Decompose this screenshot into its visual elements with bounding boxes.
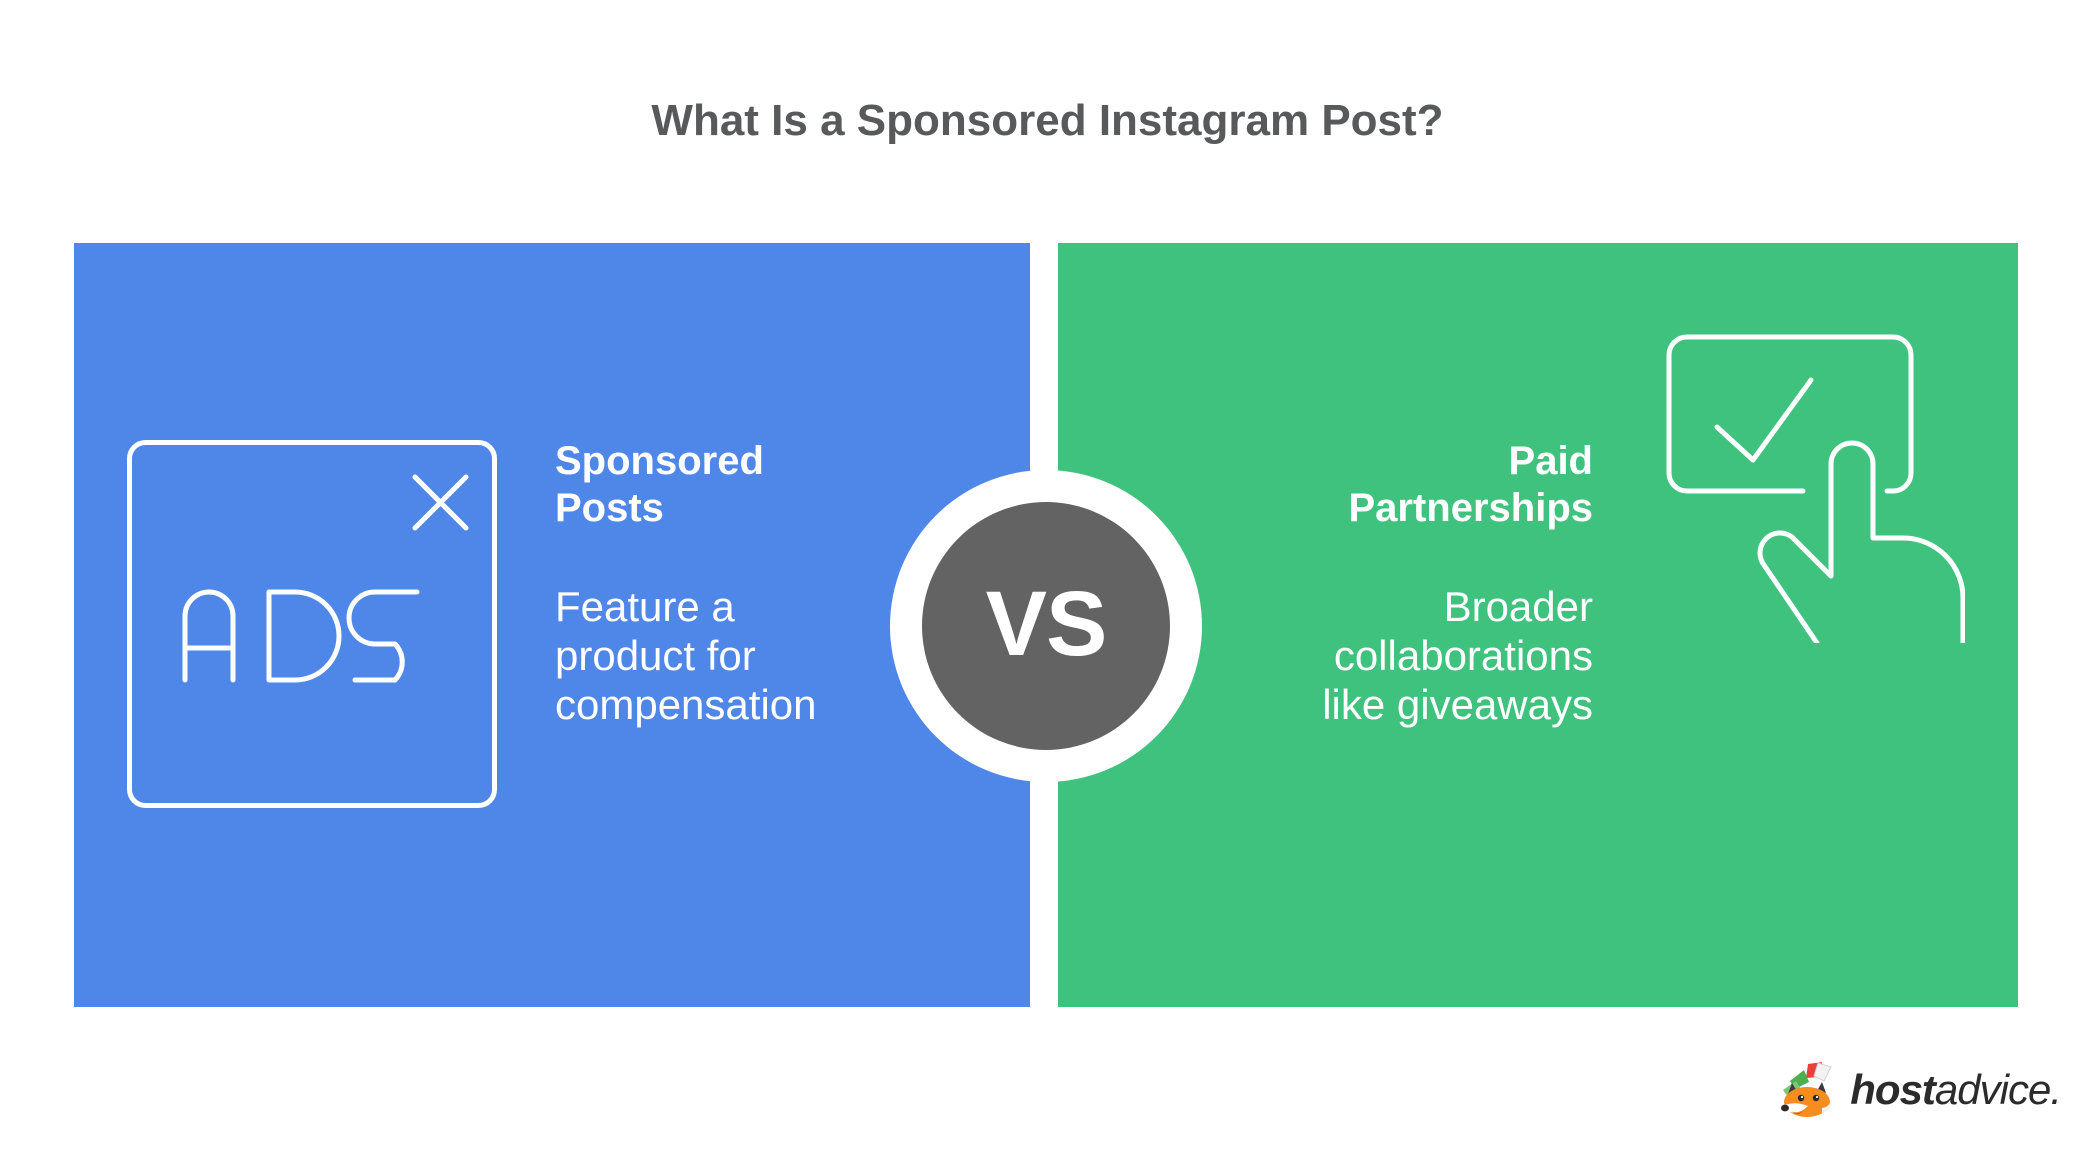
hostadvice-logo[interactable]: hostadvice.: [1778, 1059, 2061, 1121]
pointing-hand-icon: [1831, 443, 1963, 643]
hostadvice-wordmark: hostadvice.: [1850, 1069, 2061, 1111]
vs-badge: VS: [890, 470, 1202, 782]
close-x-icon: [415, 477, 466, 528]
logo-word-advice: advice.: [1935, 1066, 2061, 1113]
tap-approve-icon: [1665, 333, 1965, 643]
right-panel-text: Paid Partnerships Broader collaborations…: [1263, 438, 1593, 729]
ads-card-icon: [127, 440, 497, 808]
checkmark-icon: [1717, 380, 1811, 460]
panel-paid-partnerships: Paid Partnerships Broader collaborations…: [1058, 243, 2018, 1007]
hostadvice-fox-icon: [1778, 1061, 1840, 1119]
left-panel-text: Sponsored Posts Feature a product for co…: [555, 438, 865, 729]
left-panel-body: Feature a product for compensation: [555, 582, 865, 729]
logo-word-host: host: [1850, 1066, 1935, 1113]
right-panel-heading: Paid Partnerships: [1263, 438, 1593, 532]
vs-label: VS: [986, 578, 1107, 670]
page-title: What Is a Sponsored Instagram Post?: [0, 95, 2095, 148]
vs-circle: VS: [922, 502, 1170, 750]
right-panel-body: Broader collaborations like giveaways: [1263, 582, 1593, 729]
left-panel-heading: Sponsored Posts: [555, 438, 865, 532]
panel-sponsored-posts: Sponsored Posts Feature a product for co…: [74, 243, 1030, 1007]
